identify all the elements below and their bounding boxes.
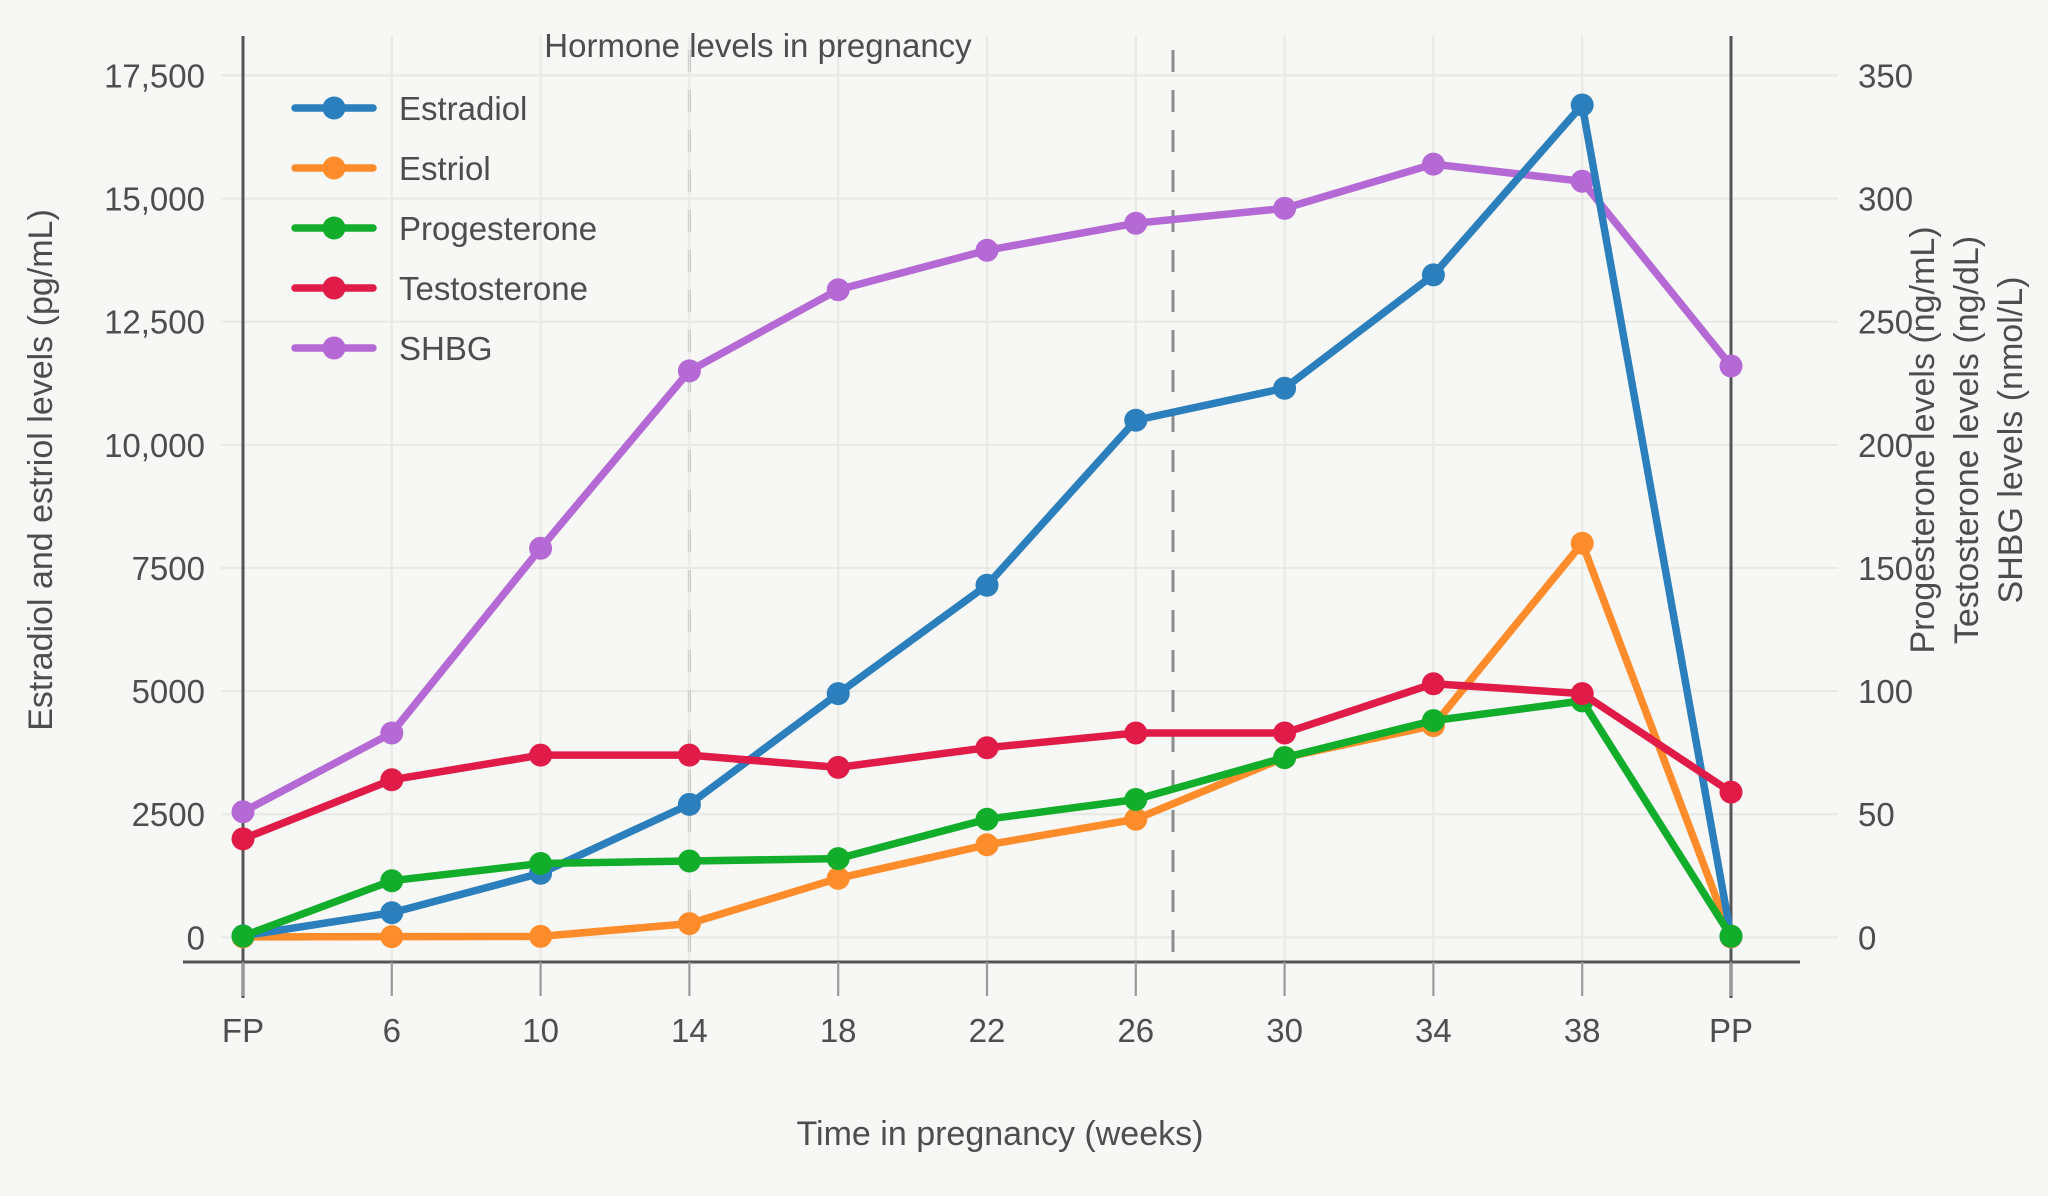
legend-swatch-marker <box>323 97 346 120</box>
y-axis-right-title-testosterone: Testosterone levels (ng/dL) <box>1948 236 1986 644</box>
legend-swatch-marker <box>323 157 346 180</box>
data-point-marker <box>678 744 701 767</box>
data-point-marker <box>976 239 999 262</box>
y-axis-left-tick-label: 17,500 <box>104 57 205 94</box>
data-point-marker <box>529 744 552 767</box>
legend-swatch-marker <box>323 217 346 240</box>
data-point-marker <box>1720 925 1743 948</box>
chart-title: Hormone levels in pregnancy <box>544 27 972 64</box>
data-point-marker <box>1422 153 1445 176</box>
x-axis-tick-label: 34 <box>1415 1012 1452 1049</box>
y-axis-left-tick-label: 15,000 <box>104 181 205 218</box>
legend-label: Testosterone <box>399 270 588 307</box>
data-point-marker <box>678 850 701 873</box>
chart-container: 025005000750010,00012,50015,00017,500 05… <box>0 0 2048 1196</box>
y-axis-left-title: Estradiol and estriol levels (pg/mL) <box>22 209 60 731</box>
data-point-marker <box>1273 722 1296 745</box>
data-point-marker <box>1422 672 1445 695</box>
data-point-marker <box>976 574 999 597</box>
data-point-marker <box>380 925 403 948</box>
y-axis-left-tick-label: 10,000 <box>104 427 205 464</box>
data-point-marker <box>1124 212 1147 235</box>
data-point-marker <box>232 800 255 823</box>
data-point-marker <box>678 793 701 816</box>
data-point-marker <box>232 827 255 850</box>
data-point-marker <box>529 537 552 560</box>
data-point-marker <box>678 359 701 382</box>
data-point-marker <box>380 869 403 892</box>
y-axis-left-tick-label: 7500 <box>132 550 205 587</box>
data-point-marker <box>1273 197 1296 220</box>
legend-swatch-marker <box>323 337 346 360</box>
data-point-marker <box>976 736 999 759</box>
hormone-levels-line-chart: 025005000750010,00012,50015,00017,500 05… <box>0 0 2048 1196</box>
x-axis-tick-label: 10 <box>522 1012 559 1049</box>
data-point-marker <box>529 925 552 948</box>
data-point-marker <box>1571 682 1594 705</box>
y-axis-right-tick-label: 50 <box>1858 796 1895 833</box>
x-axis-tick-label: 30 <box>1266 1012 1303 1049</box>
y-axis-left-tick-label: 12,500 <box>104 304 205 341</box>
data-point-marker <box>976 808 999 831</box>
data-point-marker <box>1571 94 1594 117</box>
x-axis-tick-label: PP <box>1709 1012 1753 1049</box>
legend-label: Estradiol <box>399 90 527 127</box>
legend-label: SHBG <box>399 330 493 367</box>
data-point-marker <box>232 925 255 948</box>
legend-label: Estriol <box>399 150 491 187</box>
data-point-marker <box>1720 355 1743 378</box>
legend-label: Progesterone <box>399 210 597 247</box>
data-point-marker <box>1124 722 1147 745</box>
x-axis-tick-label: 26 <box>1117 1012 1154 1049</box>
y-axis-left-tick-label: 5000 <box>132 673 205 710</box>
x-axis-tick-label: 6 <box>383 1012 401 1049</box>
y-axis-left-tick-label: 2500 <box>132 796 205 833</box>
x-axis-tick-label: 18 <box>820 1012 857 1049</box>
data-point-marker <box>1124 808 1147 831</box>
y-axis-right-title-shbg: SHBG levels (nmol/L) <box>1992 277 2030 604</box>
data-point-marker <box>827 847 850 870</box>
data-point-marker <box>827 278 850 301</box>
y-axis-left-tick-label: 0 <box>187 919 205 956</box>
y-axis-right-tick-label: 350 <box>1858 57 1913 94</box>
data-point-marker <box>1571 532 1594 555</box>
x-axis-tick-label: 14 <box>671 1012 708 1049</box>
data-point-marker <box>1273 746 1296 769</box>
data-point-marker <box>1422 263 1445 286</box>
data-point-marker <box>380 722 403 745</box>
data-point-marker <box>976 833 999 856</box>
y-axis-right-tick-label: 300 <box>1858 181 1913 218</box>
x-axis-tick-label: 38 <box>1564 1012 1601 1049</box>
data-point-marker <box>827 682 850 705</box>
y-axis-right-tick-label: 100 <box>1858 673 1913 710</box>
x-axis-tick-label: FP <box>222 1012 264 1049</box>
legend-swatch-marker <box>323 277 346 300</box>
data-point-marker <box>678 912 701 935</box>
data-point-marker <box>1273 377 1296 400</box>
data-point-marker <box>1124 788 1147 811</box>
data-point-marker <box>1571 170 1594 193</box>
data-point-marker <box>1720 781 1743 804</box>
data-point-marker <box>380 768 403 791</box>
data-point-marker <box>827 756 850 779</box>
y-axis-right-tick-label: 0 <box>1858 919 1876 956</box>
data-point-marker <box>529 852 552 875</box>
data-point-marker <box>1422 709 1445 732</box>
x-axis-title: Time in pregnancy (weeks) <box>797 1115 1204 1153</box>
y-axis-right-title-progesterone: Progesterone levels (ng/mL) <box>1904 226 1942 653</box>
data-point-marker <box>380 901 403 924</box>
data-point-marker <box>1124 409 1147 432</box>
x-axis-tick-label: 22 <box>969 1012 1006 1049</box>
data-point-marker <box>827 867 850 890</box>
